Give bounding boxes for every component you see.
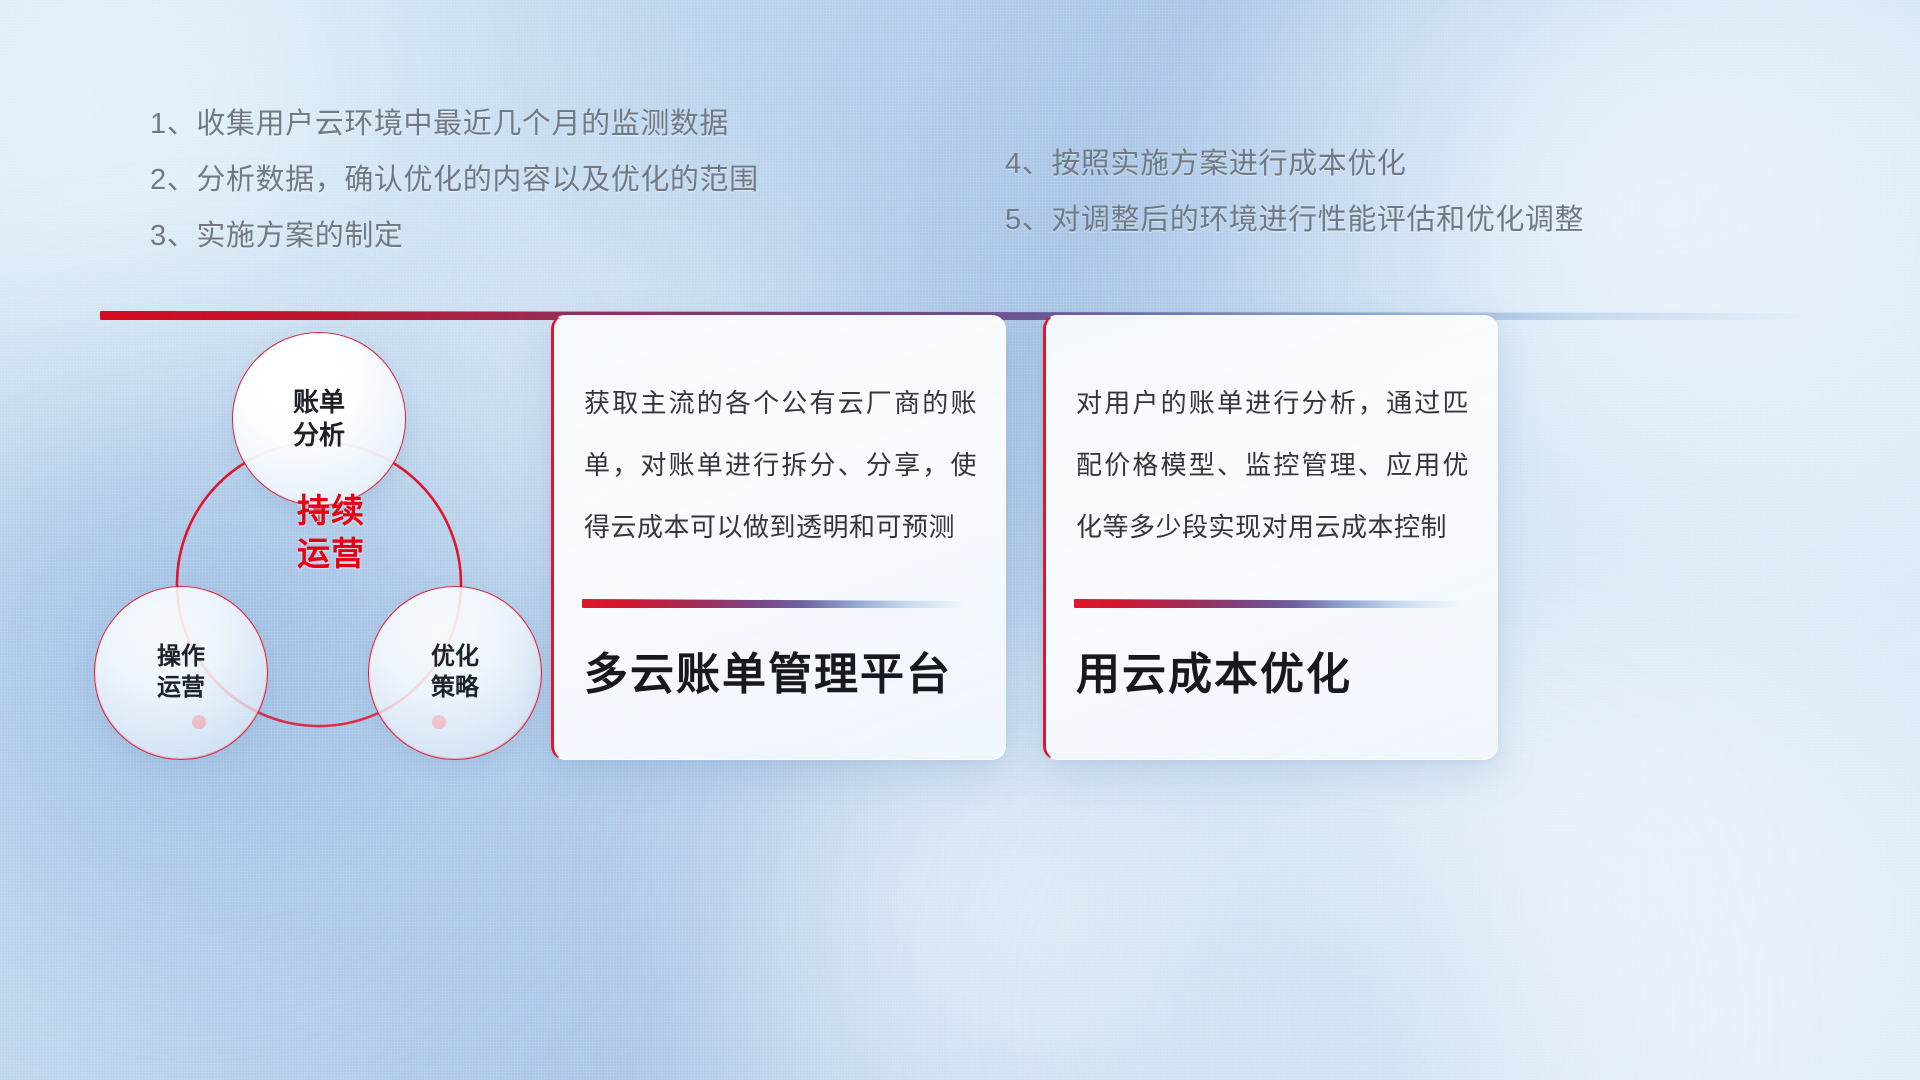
venn-center-line1: 持续 — [297, 490, 365, 533]
info-card-multi-cloud-bill-platform[interactable]: 获取主流的各个公有云厂商的账单，对账单进行拆分、分享，使得云成本可以做到透明和可… — [551, 315, 1006, 760]
info-card-1-divider — [582, 599, 968, 608]
info-card-1-title: 多云账单管理平台 — [584, 649, 952, 702]
info-card-2-divider — [1074, 599, 1460, 608]
step-item-4: 4、按照实施方案进行成本优化 — [1005, 136, 1584, 192]
venn-diagram: 账单 分析 操作 运营 优化 策略 持续 运营 — [95, 345, 565, 765]
info-card-2-title: 用云成本优化 — [1076, 649, 1352, 702]
step-item-5: 5、对调整后的环境进行性能评估和优化调整 — [1005, 192, 1584, 248]
step-item-2: 2、分析数据，确认优化的内容以及优化的范围 — [150, 152, 759, 208]
venn-bubble-bill-analysis-line2: 分析 — [293, 419, 345, 452]
steps-left-column: 1、收集用户云环境中最近几个月的监测数据 2、分析数据，确认优化的内容以及优化的… — [150, 96, 759, 264]
venn-bubble-optimize-strategy[interactable]: 优化 策略 — [369, 587, 541, 759]
step-item-3: 3、实施方案的制定 — [150, 208, 759, 264]
venn-center-label: 持续 运营 — [267, 473, 395, 593]
venn-bubble-ops-operation-line2: 运营 — [157, 673, 205, 704]
venn-center-line2: 运营 — [297, 533, 365, 576]
info-card-2-body: 对用户的账单进行分析，通过匹配价格模型、监控管理、应用优化等多少段实现对用云成本… — [1076, 372, 1469, 558]
info-card-1-body: 获取主流的各个公有云厂商的账单，对账单进行拆分、分享，使得云成本可以做到透明和可… — [584, 372, 977, 558]
venn-bubble-ops-operation-line1: 操作 — [157, 642, 205, 673]
steps-right-column: 4、按照实施方案进行成本优化 5、对调整后的环境进行性能评估和优化调整 — [1005, 136, 1584, 248]
step-item-1: 1、收集用户云环境中最近几个月的监测数据 — [150, 96, 759, 152]
venn-bubble-bill-analysis-line1: 账单 — [293, 386, 345, 419]
venn-bubble-ops-operation[interactable]: 操作 运营 — [95, 587, 267, 759]
venn-bubble-optimize-strategy-line2: 策略 — [431, 673, 479, 704]
steps-list: 1、收集用户云环境中最近几个月的监测数据 2、分析数据，确认优化的内容以及优化的… — [0, 96, 1920, 246]
info-card-cloud-cost-optimization[interactable]: 对用户的账单进行分析，通过匹配价格模型、监控管理、应用优化等多少段实现对用云成本… — [1043, 315, 1498, 760]
venn-bubble-optimize-strategy-line1: 优化 — [431, 642, 479, 673]
